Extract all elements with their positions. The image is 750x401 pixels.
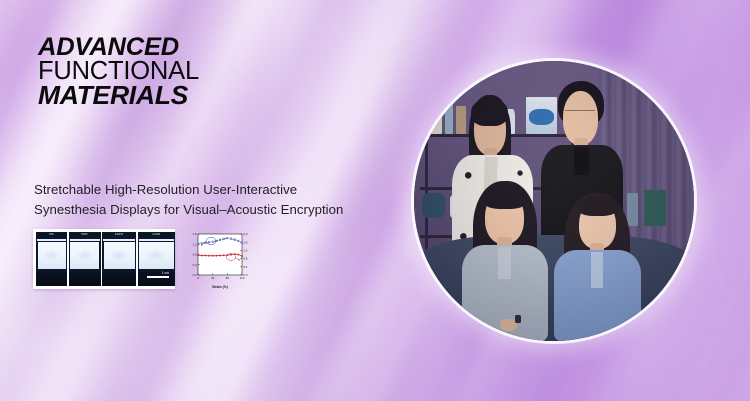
article-title-line-1: Stretchable High-Resolution User-Interac… (34, 180, 384, 200)
svg-text:80: 80 (226, 276, 230, 280)
device-panel: 120% 1 cm (138, 232, 176, 286)
svg-text:0.8: 0.8 (243, 257, 248, 261)
screen-glow (110, 250, 129, 261)
chart-left-axis-labels: 0.00.40.81.21.6 (193, 232, 198, 277)
device-panel: 50% (69, 232, 101, 286)
device-top-bar (139, 239, 175, 241)
cover-figure: 0% 50% 100% 120% 1 cm (33, 229, 260, 291)
journal-logo-line-advanced: ADVANCED (38, 36, 202, 59)
strain-performance-chart: 0.00.40.81.21.6 0.00.40.81.21.62.0 04080… (181, 229, 259, 291)
journal-logo-line-materials: MATERIALS (38, 84, 202, 108)
screen-glow (146, 250, 167, 261)
device-screen (38, 242, 66, 269)
chart-svg: 0.00.40.81.21.6 0.00.40.81.21.62.0 04080… (181, 229, 259, 291)
svg-text:0: 0 (197, 276, 199, 280)
journal-logo: ADVANCED FUNCTIONAL MATERIALS (38, 36, 199, 108)
photo-vignette (414, 61, 694, 341)
svg-text:1.6: 1.6 (243, 240, 248, 244)
device-photo-strip: 0% 50% 100% 120% 1 cm (33, 229, 175, 289)
strain-label: 0% (36, 233, 67, 236)
chart-x-axis-title: Strain (%) (212, 285, 228, 289)
device-top-bar (37, 239, 66, 241)
svg-text:120: 120 (239, 276, 244, 280)
device-screen (70, 242, 99, 269)
svg-text:0.8: 0.8 (193, 253, 198, 257)
screen-glow (43, 250, 60, 261)
scale-bar (147, 276, 169, 278)
device-base (36, 272, 67, 286)
team-photo-inner (414, 61, 694, 341)
team-photo (414, 61, 694, 341)
article-title-line-2: Synesthesia Displays for Visual–Acoustic… (34, 200, 384, 220)
svg-text:2.0: 2.0 (243, 232, 248, 236)
svg-text:1.2: 1.2 (193, 242, 198, 246)
device-base (102, 272, 136, 286)
strain-label: 50% (69, 233, 101, 236)
device-top-bar (70, 239, 100, 241)
chart-x-axis-labels: 04080120 (197, 276, 245, 280)
svg-text:1.6: 1.6 (193, 232, 198, 236)
device-base (69, 272, 101, 286)
device-screen (104, 242, 135, 269)
svg-text:0.4: 0.4 (193, 263, 198, 267)
device-base (138, 272, 176, 286)
svg-text:40: 40 (211, 276, 215, 280)
svg-text:1.2: 1.2 (243, 249, 248, 253)
article-title: Stretchable High-Resolution User-Interac… (34, 180, 384, 221)
scale-bar-label: 1 cm (162, 272, 169, 275)
device-panel: 0% (36, 232, 67, 286)
strain-label: 100% (102, 233, 136, 236)
device-panel: 100% (102, 232, 136, 286)
svg-text:0.4: 0.4 (243, 265, 248, 269)
screen-glow (76, 250, 93, 261)
strain-label: 120% (138, 233, 176, 236)
device-top-bar (103, 239, 135, 241)
device-screen (139, 242, 174, 269)
chart-right-axis-labels: 0.00.40.81.21.62.0 (243, 232, 248, 277)
